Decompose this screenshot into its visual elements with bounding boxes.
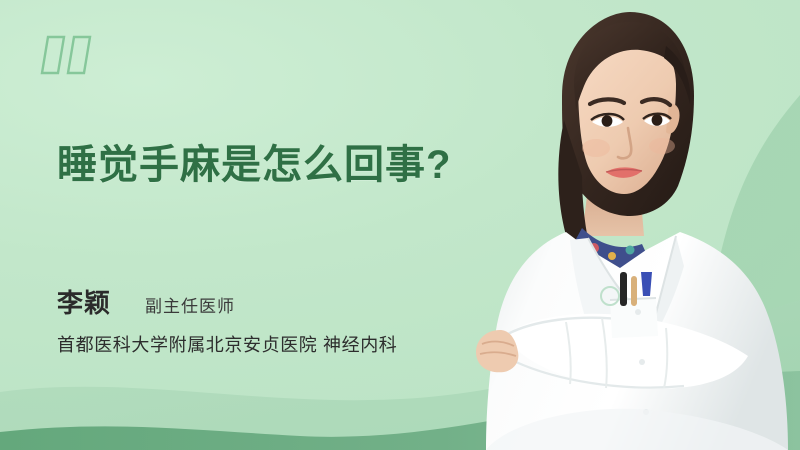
doctor-professional-title: 副主任医师 xyxy=(145,292,235,317)
doctor-name: 李颖 xyxy=(57,283,111,320)
doctor-affiliation: 首都医科大学附属北京安贞医院 神经内科 xyxy=(57,331,397,357)
page-title: 睡觉手麻是怎么回事? xyxy=(57,142,451,189)
doctor-byline: 李颖 副主任医师 xyxy=(57,283,235,320)
video-cover-card: 睡觉手麻是怎么回事? 李颖 副主任医师 首都医科大学附属北京安贞医院 神经内科 xyxy=(0,0,800,450)
doctor-portrait xyxy=(470,0,800,450)
quotation-mark-icon xyxy=(36,33,100,77)
